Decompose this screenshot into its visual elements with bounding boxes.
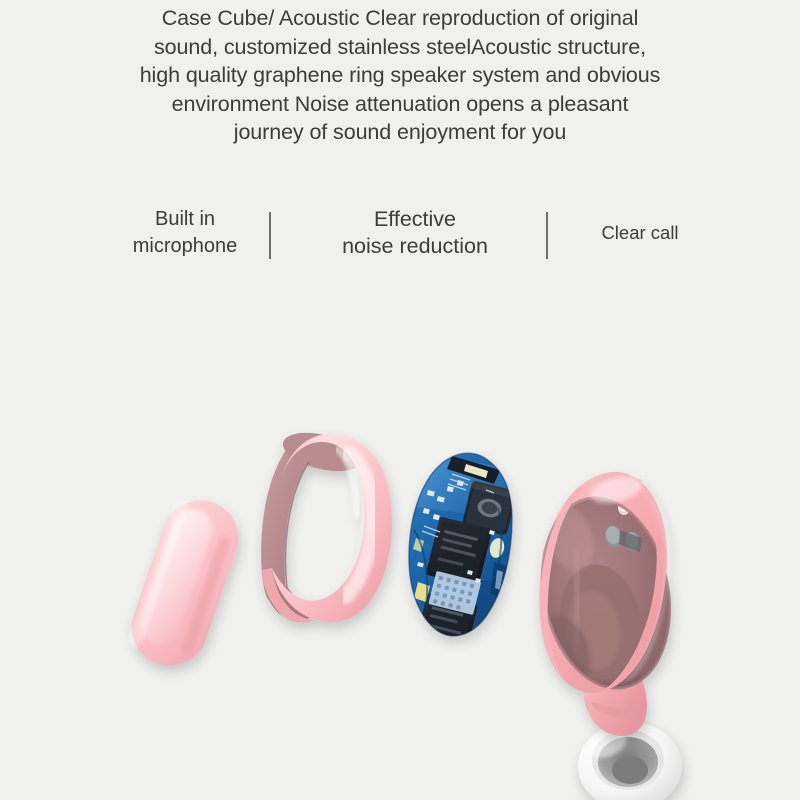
feature-built-in-microphone: Built in microphone [100,206,270,260]
headline-paragraph: Case Cube/ Acoustic Clear reproduction o… [60,4,740,147]
part-cover-plate [121,490,248,675]
feature-effective-noise-reduction: Effective noise reduction [300,206,530,260]
part-earbud-body [522,472,685,736]
feature-clear-call: Clear call [565,219,715,246]
feature-row: Built in microphone Effective noise redu… [95,206,715,276]
product-exploded-view [0,330,800,800]
part-shell-ring [261,426,392,623]
feature-divider-2 [546,212,548,259]
feature-divider-1 [269,212,271,259]
part-circuit-board [400,450,520,659]
